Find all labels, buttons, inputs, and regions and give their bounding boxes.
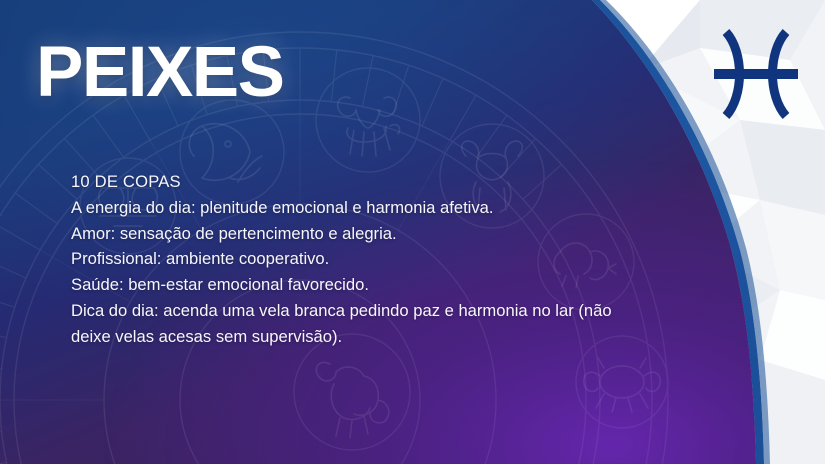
page-title: PEIXES — [36, 37, 284, 108]
professional-line: Profissional: ambiente cooperativo. — [71, 246, 717, 272]
tip-line-1: Dica do dia: acenda uma vela branca pedi… — [71, 298, 717, 324]
health-line: Saúde: bem-estar emocional favorecido. — [71, 272, 717, 298]
tip-line-2: deixe velas acesas sem supervisão). — [71, 324, 717, 350]
horoscope-text-block: 10 DE COPAS A energia do dia: plenitude … — [71, 169, 717, 350]
pisces-glyph-icon — [700, 18, 812, 130]
card-name-line: 10 DE COPAS — [71, 169, 717, 195]
love-line: Amor: sensação de pertencimento e alegri… — [71, 221, 717, 247]
horoscope-card: PEIXES 10 DE COPAS A energia do dia: ple… — [0, 0, 825, 464]
energy-line: A energia do dia: plenitude emocional e … — [71, 195, 717, 221]
